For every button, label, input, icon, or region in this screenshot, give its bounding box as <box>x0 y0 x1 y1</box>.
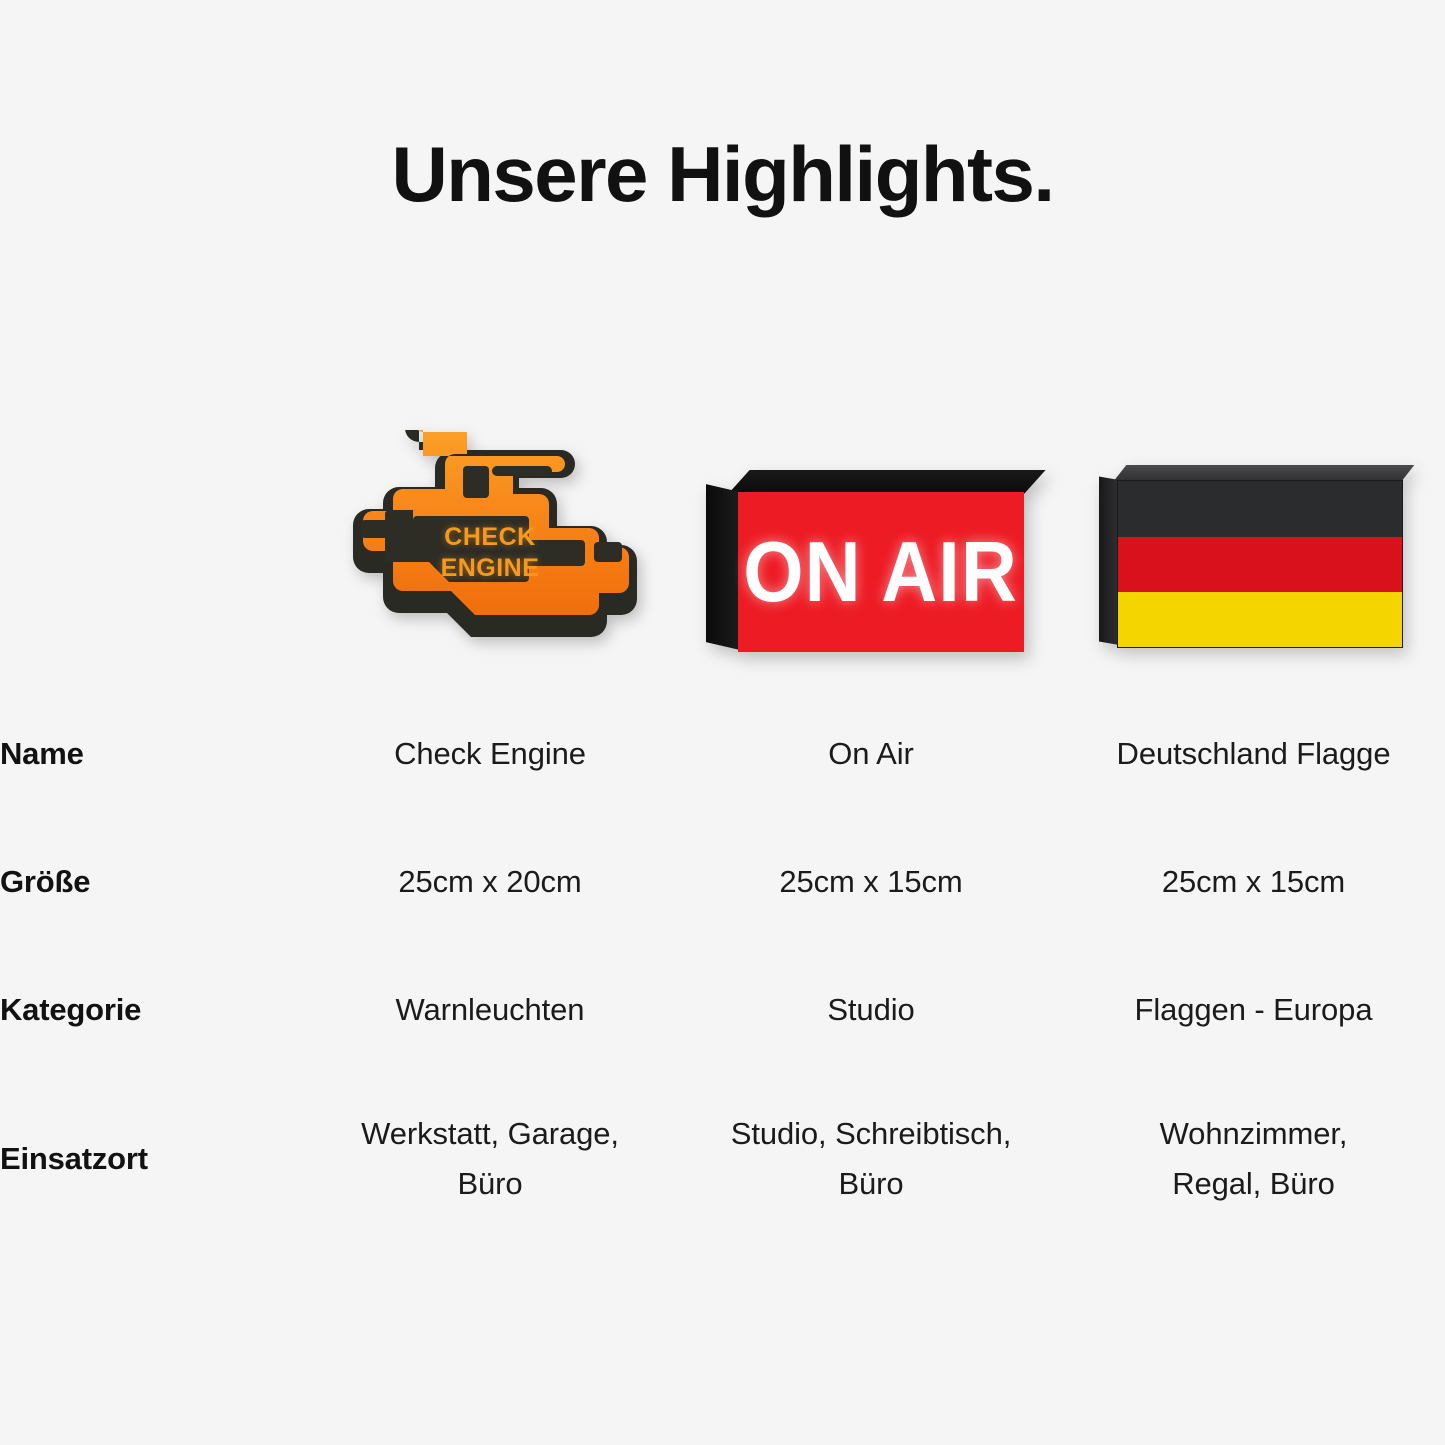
german-flag-lightbox-image[interactable] <box>1099 465 1409 660</box>
check-engine-shape <box>340 430 640 660</box>
product-comparison-table: Name Check Engine On Air Deutschland Fla… <box>0 690 1445 1244</box>
on-air-top-face <box>728 470 1046 494</box>
cell-name-deutschland-flagge: Deutschland Flagge <box>1062 690 1445 818</box>
cell-einsatzort-check-engine: Werkstatt, Garage, Büro <box>300 1074 680 1244</box>
cell-name-on-air: On Air <box>680 690 1062 818</box>
on-air-label: ON AIR <box>744 523 1019 620</box>
product-image-spacer <box>0 400 300 660</box>
row-label-einsatzort: Einsatzort <box>0 1074 300 1244</box>
cell-einsatzort-deutschland-flagge: Wohnzimmer, Regal, Büro <box>1062 1074 1445 1244</box>
table-row: Kategorie Warnleuchten Studio Flaggen - … <box>0 946 1445 1074</box>
flag-left-face <box>1099 476 1119 645</box>
on-air-front-face: ON AIR <box>738 492 1024 652</box>
product-image-cell-on-air[interactable]: ON AIR <box>680 400 1062 660</box>
page-title: Unsere Highlights. <box>0 134 1445 216</box>
cell-einsatzort-on-air: Studio, Schreibtisch, Büro <box>680 1074 1062 1244</box>
row-label-kategorie: Kategorie <box>0 946 300 1074</box>
cell-kategorie-check-engine: Warnleuchten <box>300 946 680 1074</box>
on-air-lightbox-image[interactable]: ON AIR <box>706 470 1036 660</box>
product-image-cell-check-engine[interactable]: CHECK ENGINE <box>300 400 680 660</box>
highlights-page: Unsere Highlights. <box>0 0 1445 1445</box>
cell-kategorie-on-air: Studio <box>680 946 1062 1074</box>
flag-band-black <box>1118 481 1402 537</box>
check-engine-lamp-icon[interactable]: CHECK ENGINE <box>340 430 640 660</box>
cell-groesse-check-engine: 25cm x 20cm <box>300 818 680 946</box>
table-row: Name Check Engine On Air Deutschland Fla… <box>0 690 1445 818</box>
product-image-cell-deutschland-flagge[interactable] <box>1062 400 1445 660</box>
product-image-row: CHECK ENGINE ON AIR <box>0 400 1445 660</box>
flag-band-yellow <box>1118 592 1402 647</box>
flag-front-face <box>1117 480 1403 648</box>
row-label-groesse: Größe <box>0 818 300 946</box>
flag-band-red <box>1118 537 1402 592</box>
cell-groesse-deutschland-flagge: 25cm x 15cm <box>1062 818 1445 946</box>
cell-groesse-on-air: 25cm x 15cm <box>680 818 1062 946</box>
cell-kategorie-deutschland-flagge: Flaggen - Europa <box>1062 946 1445 1074</box>
row-label-name: Name <box>0 690 300 818</box>
table-row: Einsatzort Werkstatt, Garage, Büro Studi… <box>0 1074 1445 1244</box>
cell-name-check-engine: Check Engine <box>300 690 680 818</box>
table-row: Größe 25cm x 20cm 25cm x 15cm 25cm x 15c… <box>0 818 1445 946</box>
on-air-left-face <box>706 484 740 650</box>
